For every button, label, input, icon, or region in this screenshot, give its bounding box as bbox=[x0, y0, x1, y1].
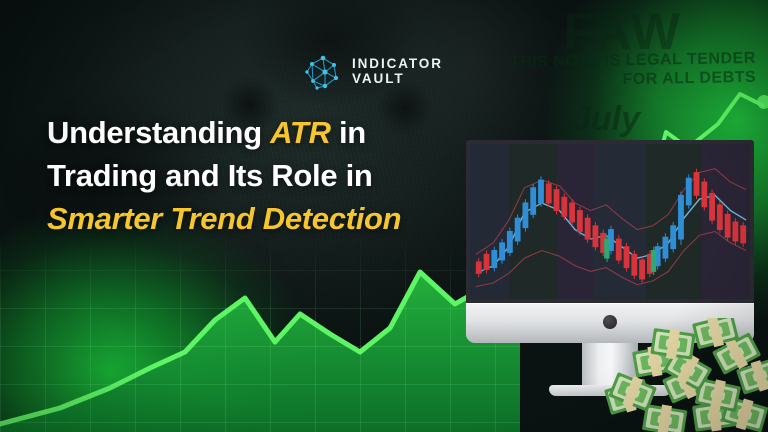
brand-name-line2: VAULT bbox=[352, 72, 443, 87]
headline-line1-part-a: Understanding bbox=[47, 115, 270, 150]
cash-bundles bbox=[596, 318, 768, 432]
monitor-screen bbox=[466, 140, 754, 303]
headline-line-1: Understanding ATR in bbox=[47, 112, 517, 155]
brand-name-line1: INDICATOR bbox=[352, 57, 443, 72]
brand-logo-text: INDICATOR VAULT bbox=[352, 57, 443, 86]
network-nodes-icon bbox=[303, 52, 343, 92]
candlestick-chart bbox=[470, 144, 750, 299]
page-title: Understanding ATR in Trading and Its Rol… bbox=[47, 112, 517, 240]
brand-logo[interactable]: INDICATOR VAULT bbox=[303, 52, 443, 92]
headline-line-2: Trading and Its Role in bbox=[47, 155, 517, 198]
headline-line-3: Smarter Trend Detection bbox=[47, 198, 517, 241]
headline-accent-atr: ATR bbox=[270, 115, 331, 150]
headline-line1-part-b: in bbox=[331, 115, 366, 150]
area-fill bbox=[0, 272, 520, 432]
promotional-banner: FAW July THIS NOTE IS LEGAL TENDER FOR A… bbox=[0, 0, 768, 432]
